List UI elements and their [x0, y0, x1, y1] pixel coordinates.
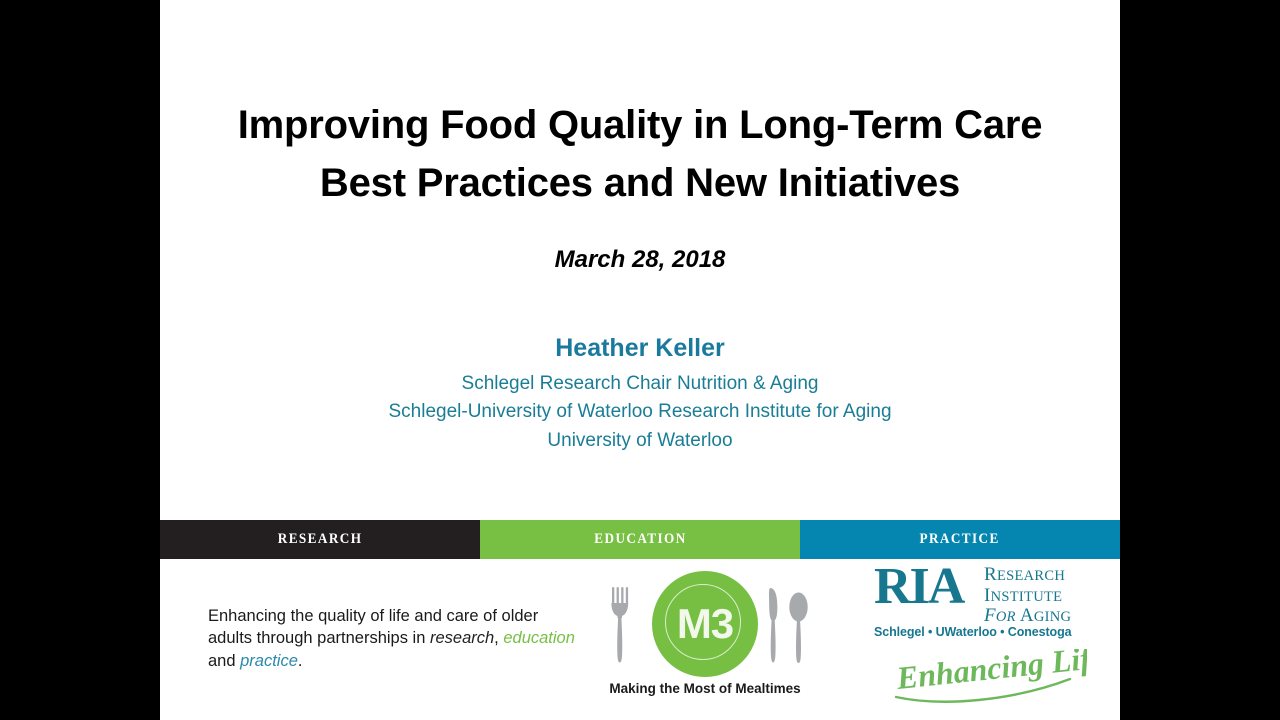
slide-footer: Enhancing the quality of life and care o… — [160, 559, 1120, 720]
author-name: Heather Keller — [160, 332, 1120, 365]
slide-title: Improving Food Quality in Long-Term Care… — [160, 96, 1120, 212]
band-segment-education: EDUCATION — [480, 520, 800, 559]
tagline-word-education: education — [503, 629, 575, 647]
author-affiliation-2: Schlegel-University of Waterloo Research… — [160, 398, 1120, 427]
author-affiliation-3: University of Waterloo — [160, 427, 1120, 456]
tagline-word-research: research — [430, 629, 494, 647]
m3-circle: M3 — [652, 571, 758, 677]
ria-lockup: RIA RESEARCH INSTITUTE FOR AGING — [872, 563, 1087, 625]
band-label-education: EDUCATION — [594, 531, 686, 548]
ria-wordmark: RESEARCH INSTITUTE FOR AGING — [984, 565, 1071, 627]
pillars-band: RESEARCH EDUCATION PRACTICE — [160, 520, 1120, 559]
spoon-icon — [787, 591, 811, 665]
band-label-practice: PRACTICE — [920, 531, 1000, 548]
fork-icon — [608, 585, 634, 665]
m3-monogram: M3 — [652, 571, 758, 677]
screenshot-stage: Improving Food Quality in Long-Term Care… — [0, 0, 1280, 720]
title-line-2: Best Practices and New Initiatives — [160, 154, 1120, 212]
tagline-separator-1: , — [494, 629, 503, 647]
m3-logo: M3 Making the Most of Mealtime — [590, 565, 820, 715]
band-segment-research: RESEARCH — [160, 520, 480, 559]
slide-date: March 28, 2018 — [160, 246, 1120, 274]
ria-script-tagline: Enhancing Life — [892, 649, 1087, 707]
tagline-end: . — [298, 652, 303, 670]
tagline-separator-2: and — [208, 652, 240, 670]
presentation-slide: Improving Food Quality in Long-Term Care… — [160, 0, 1120, 720]
ria-monogram: RIA — [874, 561, 963, 613]
ria-word-aging-text: AGING — [1020, 605, 1071, 626]
footer-tagline: Enhancing the quality of life and care o… — [208, 605, 583, 672]
author-block: Heather Keller Schlegel Research Chair N… — [160, 332, 1120, 456]
m3-caption: Making the Most of Mealtimes — [590, 681, 820, 696]
ria-word-research-text: RESEARCH — [984, 564, 1065, 585]
ria-logo: RIA RESEARCH INSTITUTE FOR AGING Schlege… — [872, 563, 1087, 715]
tagline-word-practice: practice — [240, 652, 298, 670]
ria-script-text: Enhancing Life — [894, 649, 1087, 696]
band-segment-practice: PRACTICE — [800, 520, 1120, 559]
band-label-research: RESEARCH — [278, 531, 363, 548]
author-affiliation-1: Schlegel Research Chair Nutrition & Agin… — [160, 370, 1120, 399]
ria-partners: Schlegel • UWaterloo • Conestoga — [874, 625, 1087, 639]
title-line-1: Improving Food Quality in Long-Term Care — [160, 96, 1120, 154]
ria-word-for-aging: FOR AGING — [984, 606, 1071, 627]
ria-word-for-text: FOR — [984, 605, 1016, 626]
ria-word-research: RESEARCH — [984, 565, 1071, 586]
ria-word-institute: INSTITUTE — [984, 586, 1071, 607]
knife-icon — [766, 585, 782, 665]
ria-word-institute-text: INSTITUTE — [984, 585, 1062, 606]
